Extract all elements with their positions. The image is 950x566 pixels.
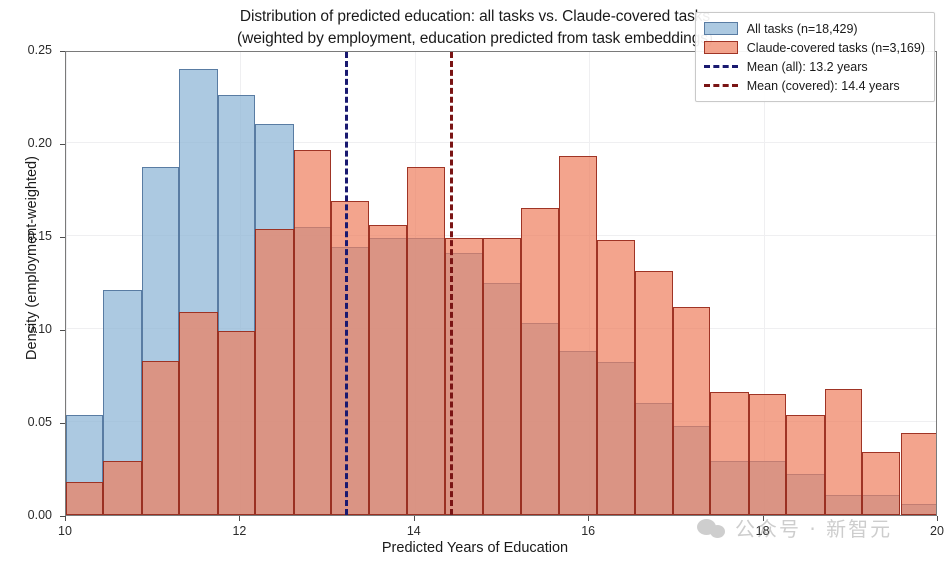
x-tick-label: 12 [219,524,259,538]
legend-item: All tasks (n=18,429) [704,19,925,38]
histogram-bar [559,156,597,515]
legend-item: Mean (all): 13.2 years [704,57,925,76]
histogram-bar [749,394,786,515]
x-tick-mark [588,516,589,521]
legend-swatch-covered-tasks [704,41,738,54]
legend-item: Mean (covered): 14.4 years [704,76,925,95]
legend-swatch-all-tasks [704,22,738,35]
legend-label: Mean (covered): 14.4 years [747,79,900,93]
wechat-logo-icon [697,515,727,541]
x-tick-mark [937,516,938,521]
legend-label: Claude-covered tasks (n=3,169) [747,41,925,55]
x-axis-label: Predicted Years of Education [0,540,950,556]
legend-label: Mean (all): 13.2 years [747,60,868,74]
y-tick-label: 0.25 [0,43,52,57]
x-tick-mark [65,516,66,521]
x-tick-mark [239,516,240,521]
y-axis-label: Density (employment-weighted) [24,58,40,458]
x-tick-label: 14 [394,524,434,538]
histogram-bar [294,150,331,515]
histogram-bar [142,361,179,515]
histogram-bar [635,271,673,515]
histogram-bar [66,482,103,515]
mean-line [450,52,453,515]
histogram-bar [369,225,406,515]
x-tick-label: 16 [568,524,608,538]
x-tick-label: 10 [45,524,85,538]
histogram-bar [483,238,521,515]
histogram-bar [597,240,634,515]
y-tick-mark [60,330,65,331]
histogram-bar [673,307,710,515]
histogram-bar [218,331,255,515]
histogram-bar [862,452,900,515]
mean-line [345,52,348,515]
y-tick-mark [60,237,65,238]
y-tick-label: 0.00 [0,508,52,522]
watermark: 公众号 · 新智元 [697,513,892,542]
plot-area [65,51,937,516]
legend-label: All tasks (n=18,429) [747,22,858,36]
histogram-bar [103,461,141,515]
x-tick-mark [414,516,415,521]
y-tick-mark [60,423,65,424]
histogram-bar [710,392,748,515]
histogram-bar [407,167,445,515]
legend-dash-mean-all [704,65,738,68]
histogram-bar [179,312,217,515]
x-tick-mark [763,516,764,521]
x-tick-label: 18 [743,524,783,538]
x-tick-label: 20 [917,524,950,538]
histogram-bar [825,389,862,515]
histogram-bar [255,229,293,515]
histogram-bar [786,415,824,515]
histogram-bar [521,208,558,515]
y-tick-mark [60,51,65,52]
legend-dash-mean-covered [704,84,738,87]
chart-legend: All tasks (n=18,429)Claude-covered tasks… [695,12,935,102]
histogram-bar [901,433,938,515]
y-tick-mark [60,144,65,145]
histogram-bar [331,201,369,515]
chart-figure: Distribution of predicted education: all… [0,0,950,566]
legend-item: Claude-covered tasks (n=3,169) [704,38,925,57]
